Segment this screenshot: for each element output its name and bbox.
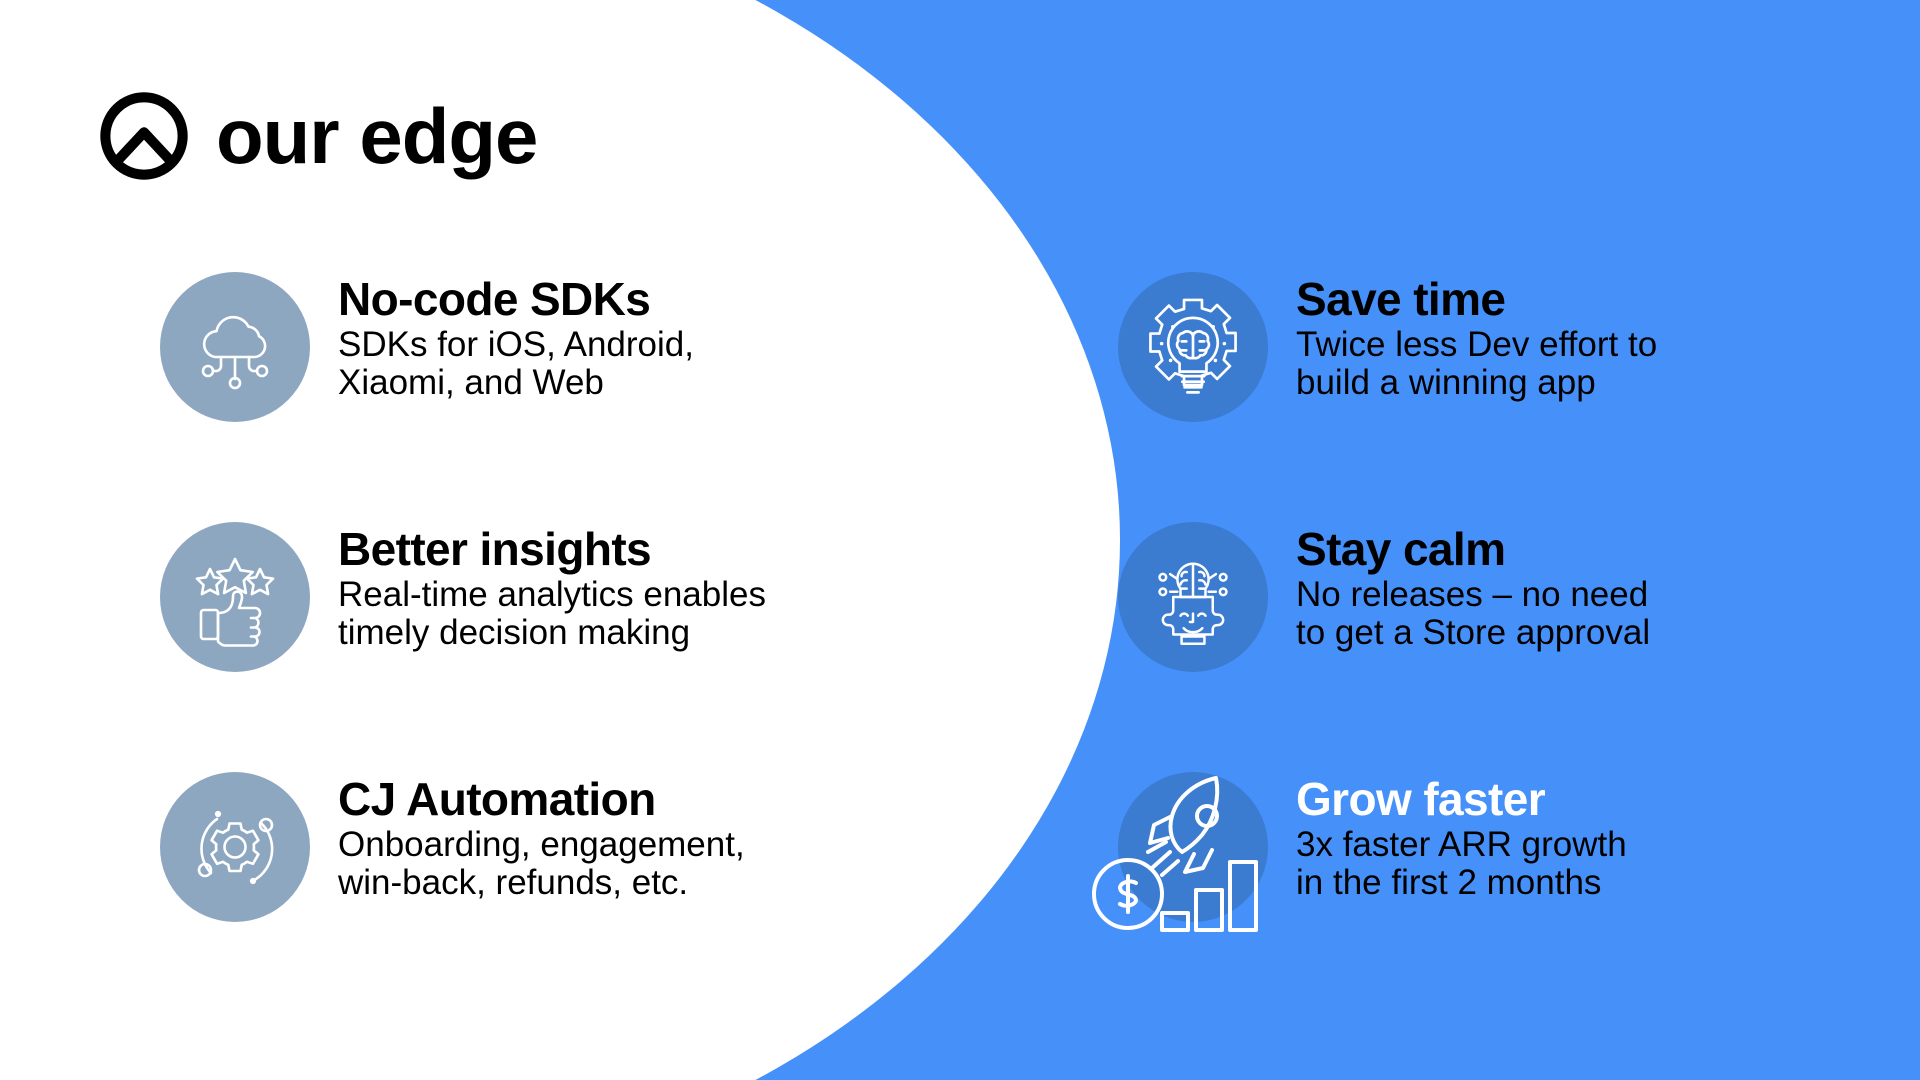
feature-item: No-code SDKs SDKs for iOS, Android, Xiao… bbox=[160, 272, 860, 422]
feature-title: Stay calm bbox=[1296, 526, 1650, 573]
page-title: our edge bbox=[216, 97, 537, 175]
feature-title: CJ Automation bbox=[338, 776, 745, 823]
feature-text: CJ Automation Onboarding, engagement, wi… bbox=[338, 772, 745, 902]
feature-item: Grow faster 3x faster ARR growth in the … bbox=[1118, 772, 1878, 922]
feature-title: Save time bbox=[1296, 276, 1657, 323]
rocket-growth-chart-icon bbox=[1118, 772, 1268, 922]
feature-item: Better insights Real-time analytics enab… bbox=[160, 522, 860, 672]
circle-chevron-logo-icon bbox=[98, 90, 190, 182]
left-feature-column: No-code SDKs SDKs for iOS, Android, Xiao… bbox=[160, 272, 860, 922]
feature-description: 3x faster ARR growth in the first 2 mont… bbox=[1296, 826, 1627, 902]
cloud-network-icon bbox=[160, 272, 310, 422]
feature-item: Stay calm No releases – no need to get a… bbox=[1118, 522, 1878, 672]
gear-lightbulb-brain-icon bbox=[1118, 272, 1268, 422]
feature-title: Better insights bbox=[338, 526, 766, 573]
feature-text: Better insights Real-time analytics enab… bbox=[338, 522, 766, 652]
brand-header: our edge bbox=[98, 90, 537, 182]
feature-title: No-code SDKs bbox=[338, 276, 694, 323]
feature-item: Save time Twice less Dev effort to build… bbox=[1118, 272, 1878, 422]
feature-description: No releases – no need to get a Store app… bbox=[1296, 576, 1650, 652]
head-brain-icon bbox=[1118, 522, 1268, 672]
feature-description: SDKs for iOS, Android, Xiaomi, and Web bbox=[338, 326, 694, 402]
thumbs-up-stars-icon bbox=[160, 522, 310, 672]
right-feature-column: Save time Twice less Dev effort to build… bbox=[1118, 272, 1878, 922]
feature-item: CJ Automation Onboarding, engagement, wi… bbox=[160, 772, 860, 922]
feature-text: No-code SDKs SDKs for iOS, Android, Xiao… bbox=[338, 272, 694, 402]
feature-description: Onboarding, engagement, win-back, refund… bbox=[338, 826, 745, 902]
feature-description: Twice less Dev effort to build a winning… bbox=[1296, 326, 1657, 402]
feature-text: Grow faster 3x faster ARR growth in the … bbox=[1296, 772, 1627, 902]
feature-text: Save time Twice less Dev effort to build… bbox=[1296, 272, 1657, 402]
slide-canvas: our edge No-code SDKs SDKs for iOS, Andr… bbox=[0, 0, 1920, 1080]
gear-orbit-icon bbox=[160, 772, 310, 922]
feature-title: Grow faster bbox=[1296, 776, 1627, 823]
feature-text: Stay calm No releases – no need to get a… bbox=[1296, 522, 1650, 652]
feature-description: Real-time analytics enables timely decis… bbox=[338, 576, 766, 652]
